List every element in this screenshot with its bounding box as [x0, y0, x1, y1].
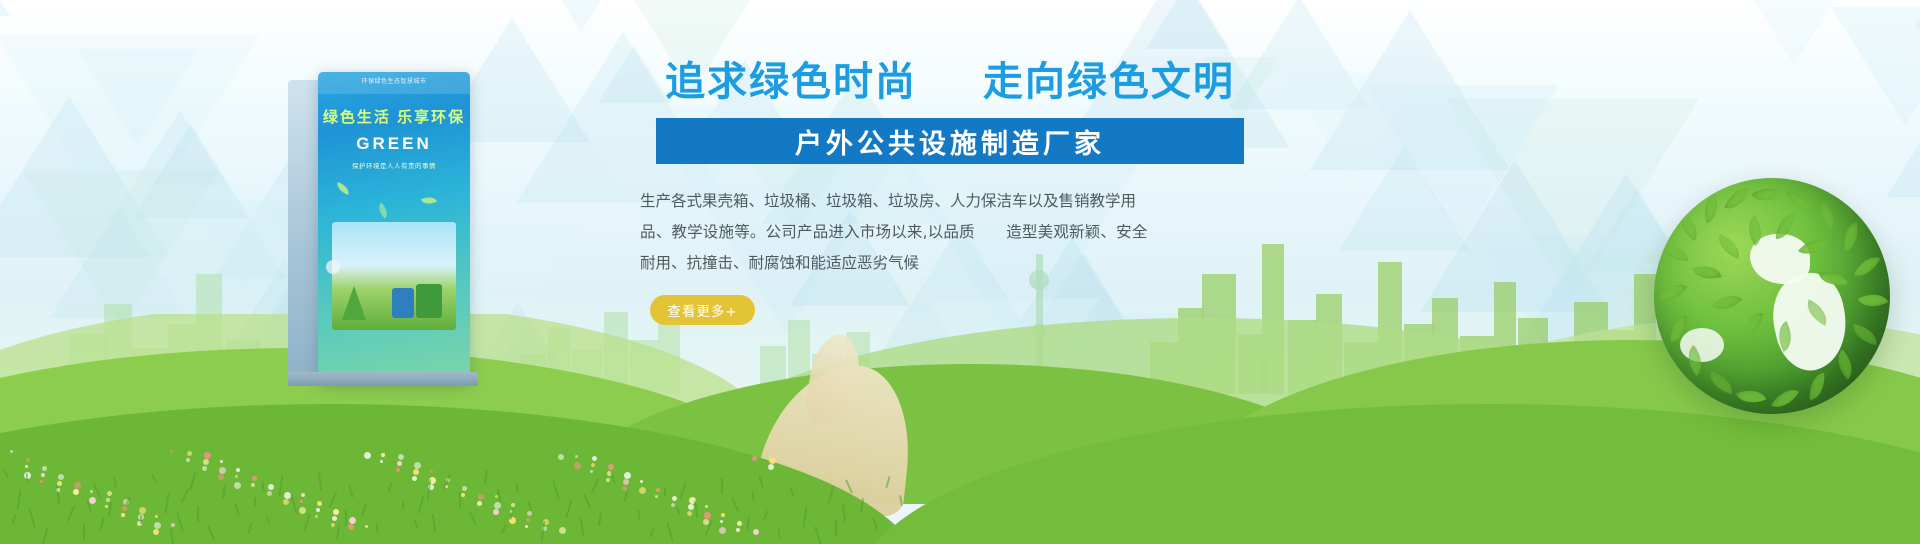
flower-icon [348, 524, 354, 530]
leaf-icon [1706, 371, 1736, 394]
kiosk-side-panel [288, 80, 320, 380]
flower-icon [283, 499, 289, 505]
flower-icon [317, 501, 322, 506]
grass-blade [83, 524, 85, 540]
grass-blade [664, 487, 666, 496]
flower-icon [462, 486, 467, 491]
flower-icon [187, 451, 192, 456]
flower-icon [574, 462, 581, 469]
leaf-icon [1812, 199, 1843, 229]
flower-icon [301, 493, 305, 497]
grass-blade [197, 506, 199, 522]
kiosk-headline-en: GREEN [318, 134, 470, 154]
flower-icon [267, 491, 272, 496]
flower-icon [494, 502, 501, 509]
flower-icon [299, 507, 306, 514]
flower-icon [203, 459, 209, 465]
flower-icon [769, 457, 776, 464]
flower-icon [220, 460, 223, 463]
flower-icon [478, 494, 484, 500]
outdoor-kiosk-illustration: 环保绿色生态智慧城市 绿色生活 乐享环保 GREEN 保护环境是人人有责的事情 [288, 72, 488, 384]
kiosk-sub-text: 保护环境是人人有责的事情 [318, 160, 470, 170]
flower-icon [590, 470, 593, 473]
continent-shape [1680, 328, 1724, 362]
paragraph-line-3: 耐用、抗撞击、耐腐蚀和能适应恶劣气候 [640, 248, 1240, 279]
leaf-icon [1736, 384, 1766, 410]
headline-right: 走向绿色文明 [983, 59, 1235, 105]
leaf-icon [1751, 180, 1782, 208]
triangle-shape [0, 0, 10, 16]
flower-icon [315, 515, 318, 518]
flower-icon [380, 460, 383, 463]
flower-icon [153, 529, 159, 535]
flower-icon [720, 520, 723, 523]
flower-icon [705, 505, 708, 508]
green-leaf-globe-illustration [1654, 178, 1890, 414]
flower-icon [688, 504, 694, 510]
leaf-icon [1851, 324, 1880, 345]
flower-icon [202, 466, 207, 471]
paragraph-line-2: 品、教学设施等。公司产品进入市场以来,以品质 造型美观新颖、安全 [640, 217, 1240, 248]
kiosk-button-icon [326, 260, 340, 274]
flower-icon [332, 516, 337, 521]
grass-blade [26, 473, 28, 482]
flower-icon [105, 505, 108, 508]
flower-icon [461, 493, 465, 497]
flower-icon [559, 527, 566, 534]
flower-icon [251, 483, 255, 487]
leaf-icon [421, 193, 438, 207]
flower-icon [236, 468, 240, 472]
flower-icon [235, 475, 238, 478]
flower-icon [736, 528, 740, 532]
leaf-icon [1807, 373, 1827, 401]
view-more-button[interactable]: 查看更多+ [650, 295, 755, 325]
grass-blade [721, 478, 723, 494]
description-paragraph: 生产各式果壳箱、垃圾桶、垃圾箱、垃圾房、人力保洁车以及售销教学用 品、教学设施等… [640, 186, 1240, 279]
leaf-icon [1692, 261, 1722, 285]
leaf-icon [1724, 183, 1749, 213]
leaf-icon [1785, 191, 1812, 210]
page-title: 追求绿色时尚 走向绿色文明 [640, 60, 1260, 104]
flower-icon [139, 507, 146, 514]
flower-icon [511, 503, 515, 507]
flower-icon [752, 456, 757, 461]
flower-icon [608, 464, 614, 470]
flower-icon [41, 473, 45, 477]
flower-icon [26, 458, 30, 462]
flower-icon [527, 511, 532, 516]
headline-left: 追求绿色时尚 [665, 59, 917, 105]
flower-icon [412, 476, 417, 481]
triangle-shape [1749, 0, 1839, 65]
hero-copy-block: 追求绿色时尚 走向绿色文明 户外公共设施制造厂家 生产各式果壳箱、垃圾桶、垃圾箱… [640, 60, 1260, 325]
paragraph-line-1: 生产各式果壳箱、垃圾桶、垃圾箱、垃圾房、人力保洁车以及售销教学用 [640, 186, 1240, 217]
flower-icon [525, 525, 528, 528]
flower-icon [737, 521, 742, 526]
flower-icon [655, 495, 658, 498]
grass-blade [835, 520, 837, 536]
flower-icon [171, 523, 175, 527]
flower-icon [640, 480, 643, 483]
flower-icon [154, 522, 161, 529]
flower-icon [252, 476, 257, 481]
leaf-icon [375, 202, 391, 218]
flower-icon [656, 488, 660, 492]
flower-icon [74, 482, 81, 489]
recycle-bin-icon [392, 288, 414, 318]
flower-icon [753, 529, 759, 535]
flower-icon [396, 468, 400, 472]
flower-icon [704, 512, 711, 519]
flower-icon [73, 489, 79, 495]
flower-icon [381, 453, 385, 457]
flower-icon [204, 452, 211, 459]
flower-icon [575, 455, 578, 458]
flower-icon [558, 454, 564, 460]
flower-icon [268, 484, 274, 490]
flower-icon [155, 515, 158, 518]
triangle-shape [1338, 146, 1470, 251]
triangle-shape [1886, 82, 1920, 197]
flower-icon [624, 472, 631, 479]
flower-icon [398, 454, 404, 460]
flower-icon [121, 513, 125, 517]
flower-icon [413, 469, 419, 475]
flower-icon [58, 474, 64, 480]
flower-icon [639, 487, 646, 494]
flower-icon [90, 490, 93, 493]
flower-icon [592, 456, 597, 461]
flower-icon [218, 474, 224, 480]
flower-icon [397, 461, 402, 466]
flower-icon [89, 497, 96, 504]
flower-icon [316, 508, 320, 512]
grass-blade [778, 529, 780, 538]
kiosk-top-text: 环保绿色生态智慧城市 [318, 76, 470, 85]
flower-icon [25, 465, 28, 468]
flower-icon [364, 452, 371, 459]
flower-icon [186, 458, 190, 462]
flower-icon [333, 509, 339, 515]
grass-blade [140, 515, 142, 524]
flower-icon [42, 466, 47, 471]
flower-icon [57, 481, 62, 486]
flower-icon [623, 479, 629, 485]
grass-blade [345, 510, 347, 526]
flower-icon [234, 482, 241, 489]
flower-icon [526, 518, 530, 522]
flower-icon [170, 450, 173, 453]
flower-icon [477, 501, 482, 506]
leaf-icon [1699, 194, 1723, 224]
flower-icon [606, 478, 610, 482]
leaf-icon [1714, 234, 1744, 259]
leaf-icon [1771, 383, 1799, 414]
flower-icon [414, 462, 421, 469]
globe-sphere [1654, 178, 1890, 414]
grass-blade [254, 497, 256, 506]
grass-blade [402, 501, 404, 510]
leaf-icon [1658, 277, 1687, 308]
grass-blade [516, 483, 518, 492]
flower-icon [219, 467, 226, 474]
flower-icon [687, 511, 692, 516]
tree-icon [342, 286, 366, 320]
flower-icon [122, 506, 127, 511]
flower-icon [671, 503, 675, 507]
leaf-icon [1674, 212, 1705, 241]
subtitle-ribbon: 户外公共设施制造厂家 [656, 118, 1244, 164]
flower-icon [493, 509, 499, 515]
leaf-icon [335, 182, 351, 195]
flower-icon [430, 470, 433, 473]
leaf-icon [1858, 287, 1889, 314]
grass-blade [459, 492, 461, 508]
leaf-icon [1840, 222, 1862, 251]
flower-icon [40, 480, 43, 483]
kiosk-photo-panel [332, 222, 456, 330]
kiosk-headline-cn: 绿色生活 乐享环保 [318, 106, 470, 127]
flower-icon [672, 496, 677, 501]
leaf-icon [1854, 251, 1881, 282]
trash-bin-icon [416, 284, 442, 318]
kiosk-base [288, 372, 478, 386]
hero-banner: 环保绿色生态智慧城市 绿色生活 乐享环保 GREEN 保护环境是人人有责的事情 … [0, 0, 1920, 544]
flower-icon [591, 463, 595, 467]
leaf-icon [1743, 310, 1764, 338]
flower-icon [719, 527, 726, 534]
leaf-icon [1662, 244, 1688, 261]
flower-icon [107, 491, 112, 496]
flower-icon [10, 450, 13, 453]
flower-icon [768, 464, 774, 470]
flower-icon [721, 513, 725, 517]
leaf-icon [1712, 287, 1743, 317]
flower-icon [300, 500, 303, 503]
flower-icon [331, 523, 335, 527]
flower-icon [349, 517, 356, 524]
kiosk-front-panel: 环保绿色生态智慧城市 绿色生活 乐享环保 GREEN 保护环境是人人有责的事情 [318, 72, 470, 384]
flower-icon [365, 525, 368, 528]
